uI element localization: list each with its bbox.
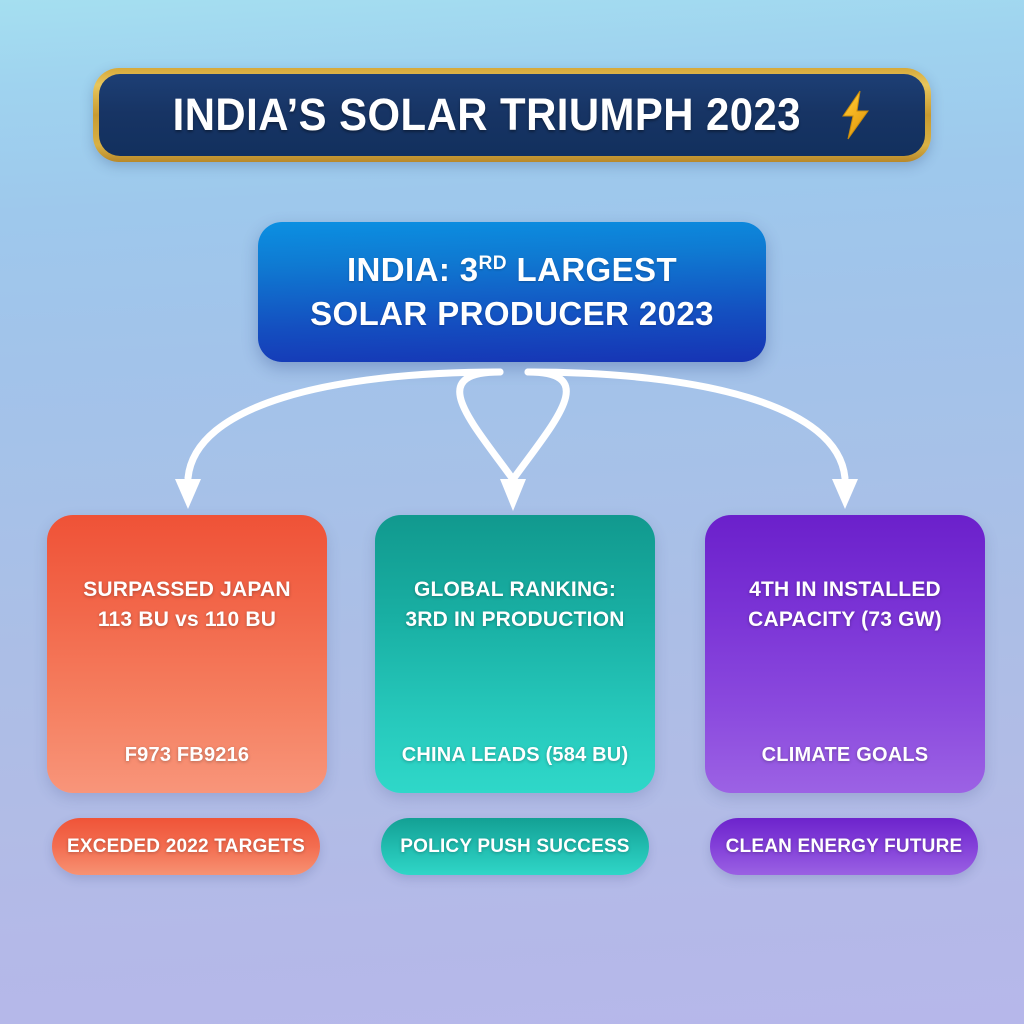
stat-card-heading: GLOBAL RANKING: 3RD IN PRODUCTION (393, 575, 636, 636)
connector-arrow-centre-b (514, 372, 566, 478)
stat-card-heading-line-2: 113 BU vs 110 BU (83, 605, 291, 635)
connector-arrow-left (188, 372, 500, 478)
stat-card-global-ranking[interactable]: GLOBAL RANKING: 3RD IN PRODUCTION CHINA … (375, 515, 655, 793)
stat-card-heading-line-1: 4TH IN INSTALLED (748, 575, 942, 605)
stat-card-heading-line-1: GLOBAL RANKING: (405, 575, 624, 605)
badge-label: EXCEDED 2022 TARGETS (67, 836, 305, 858)
stat-card-surpassed-japan[interactable]: SURPASSED JAPAN 113 BU vs 110 BU F973 FB… (47, 515, 327, 793)
badge-label: CLEAN ENERGY FUTURE (726, 836, 963, 858)
stat-card-heading-line-1: SURPASSED JAPAN (83, 575, 291, 605)
connector-arrowhead-centre (500, 479, 526, 511)
badge-label: POLICY PUSH SUCCESS (400, 836, 629, 858)
stat-card-heading-line-2: 3RD IN PRODUCTION (405, 605, 624, 635)
connector-arrow-right (528, 372, 845, 478)
stat-card-footer: CHINA LEADS (584 BU) (375, 744, 655, 767)
badge-clean-energy-future[interactable]: CLEAN ENERGY FUTURE (710, 818, 978, 875)
infographic-canvas: INDIA’S SOLAR TRIUMPH 2023 INDIA: 3RD LA… (0, 0, 1024, 1024)
stat-card-heading-line-2: CAPACITY (73 GW) (748, 605, 942, 635)
stat-card-footer: CLIMATE GOALS (705, 744, 985, 767)
stat-card-heading: SURPASSED JAPAN 113 BU vs 110 BU (71, 575, 303, 636)
badge-policy-push-success[interactable]: POLICY PUSH SUCCESS (381, 818, 649, 875)
stat-card-installed-capacity[interactable]: 4TH IN INSTALLED CAPACITY (73 GW) CLIMAT… (705, 515, 985, 793)
connector-arrow-centre-a (460, 372, 512, 478)
connector-arrowhead-left (175, 479, 201, 509)
connector-arrowhead-right (832, 479, 858, 509)
stat-card-heading: 4TH IN INSTALLED CAPACITY (73 GW) (736, 575, 954, 636)
stat-card-footer: F973 FB9216 (47, 744, 327, 767)
badge-exceeded-targets[interactable]: EXCEDED 2022 TARGETS (52, 818, 320, 875)
